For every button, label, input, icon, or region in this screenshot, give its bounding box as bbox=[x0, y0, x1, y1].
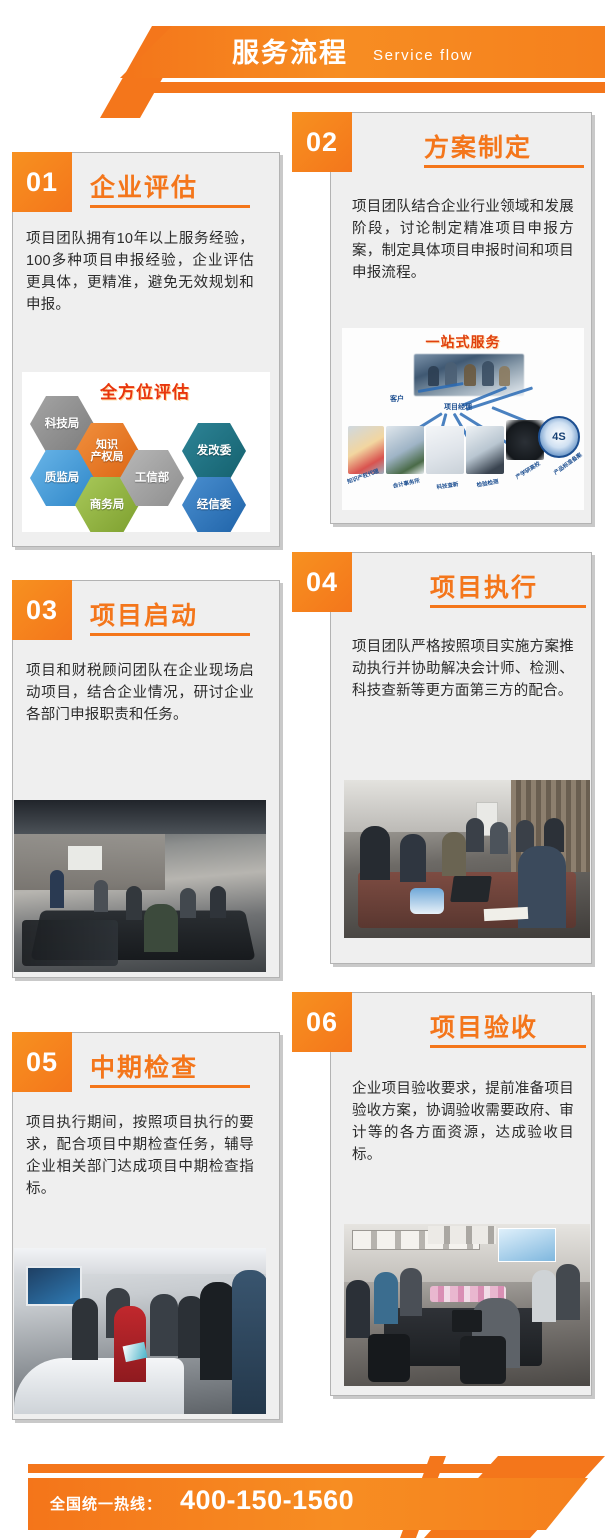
card-05-photo-display-screen bbox=[26, 1266, 82, 1306]
card-06-photo bbox=[344, 1224, 590, 1386]
card-01-hexagon-chart: 全方位评估 科技局 知识产权局 质监局 商务局 工信部 发改委 经信委 bbox=[22, 372, 270, 532]
hexagon-node-4-label: 工信部 bbox=[135, 472, 170, 485]
one-stop-thumb-0 bbox=[348, 426, 384, 474]
one-stop-thumb-2 bbox=[426, 426, 464, 474]
card-03-photo-chair-row bbox=[22, 920, 118, 966]
card-04-photo-person-e bbox=[490, 822, 508, 854]
one-stop-service-label-1: 会计事务所 bbox=[392, 476, 421, 490]
page-title: 服务流程 bbox=[232, 34, 348, 72]
card-04-photo-bag bbox=[410, 888, 444, 914]
one-stop-hero-figure-e bbox=[499, 366, 510, 386]
card-03-photo-person-b bbox=[94, 880, 108, 912]
card-04-title-rule bbox=[430, 605, 586, 608]
card-04-photo-person-d bbox=[466, 818, 484, 852]
hexagon-node-6: 经信委 bbox=[182, 477, 246, 532]
hexagon-node-0-label: 科技局 bbox=[45, 418, 80, 431]
header-bar bbox=[120, 26, 605, 78]
one-stop-hero-figure-a bbox=[428, 366, 439, 386]
card-02-one-stop-service-diagram: 一站式服务 客户 项目经理 4S 知识产权代理 会计事务所 科技查新 bbox=[342, 328, 584, 510]
card-01-number-badge: 01 bbox=[12, 152, 72, 212]
card-06-photo-person-right-a bbox=[532, 1270, 556, 1322]
card-05-photo-person-c bbox=[150, 1294, 178, 1356]
hexagon-node-5-label: 发改委 bbox=[197, 445, 232, 458]
card-06-photo-person-left-b bbox=[374, 1272, 398, 1324]
card-06-number-badge: 06 bbox=[292, 992, 352, 1052]
card-02-body: 项目团队结合企业行业领域和发展阶段，讨论制定精准项目申报方案，制定具体项目申报时… bbox=[352, 196, 574, 284]
infographic-page: 服务流程 Service flow 01 企业评估 项目团队拥有10年以上服务经… bbox=[0, 0, 605, 1538]
footer-banner: 全国统一热线： 400-150-1560 bbox=[0, 1420, 605, 1538]
card-02-title: 方案制定 bbox=[424, 128, 532, 164]
card-04-photo-person-b bbox=[400, 834, 426, 882]
card-03-title-rule bbox=[90, 633, 250, 636]
card-05-photo-counter bbox=[14, 1358, 184, 1414]
card-03-photo-ceiling bbox=[14, 800, 266, 834]
card-01-title: 企业评估 bbox=[90, 168, 198, 204]
hexagon-node-2-label: 质监局 bbox=[45, 472, 80, 485]
hexagon-node-1-label: 知识产权局 bbox=[91, 439, 124, 464]
card-06-photo-chair-a bbox=[368, 1334, 410, 1382]
one-stop-quality-seal-icon: 4S bbox=[538, 416, 580, 458]
one-stop-service-title: 一站式服务 bbox=[342, 332, 584, 352]
card-04-photo-papers bbox=[484, 907, 529, 921]
card-06-title: 项目验收 bbox=[430, 1008, 538, 1044]
card-01-body: 项目团队拥有10年以上服务经验，100多种项目申报经验，企业评估更具体，更精准，… bbox=[26, 228, 254, 316]
one-stop-center-node: 项目经理 bbox=[444, 402, 472, 412]
header-underline-stripe bbox=[138, 82, 605, 93]
card-03-photo bbox=[14, 800, 266, 972]
hexagon-node-5: 发改委 bbox=[182, 423, 246, 479]
card-03-number-badge: 03 bbox=[12, 580, 72, 640]
card-04-photo-laptop bbox=[450, 876, 492, 902]
hexagon-chart-heading: 全方位评估 bbox=[100, 378, 190, 403]
card-02-title-rule bbox=[424, 165, 584, 168]
card-06-body: 企业项目验收要求，提前准备项目验收方案，协调验收需要政府、审计等的各方面资源，达… bbox=[352, 1078, 574, 1166]
card-05-photo bbox=[14, 1248, 266, 1414]
one-stop-hero-figure-c bbox=[464, 364, 476, 386]
card-05-title-rule bbox=[90, 1085, 250, 1088]
card-05-photo-person-a bbox=[72, 1298, 98, 1360]
header-banner: 服务流程 Service flow bbox=[0, 0, 605, 118]
card-03-photo-whiteboard bbox=[68, 846, 102, 870]
card-06-photo-projector-screen bbox=[498, 1228, 556, 1262]
card-06-title-rule bbox=[430, 1045, 586, 1048]
one-stop-hero-figure-d bbox=[482, 361, 494, 386]
footer-hotline-label: 全国统一热线： bbox=[50, 1493, 162, 1514]
card-04-body: 项目团队严格按照项目实施方案推动执行并协助解决会计师、检测、科技查新等更方面第三… bbox=[352, 636, 574, 702]
card-02-number-badge: 02 bbox=[292, 112, 352, 172]
card-05-title: 中期检查 bbox=[90, 1048, 198, 1084]
one-stop-thumb-3 bbox=[466, 426, 504, 474]
one-stop-service-label-4: 产学研高校 bbox=[514, 459, 542, 480]
card-04-photo-person-a bbox=[360, 826, 390, 880]
card-06-photo-person-left-c bbox=[400, 1268, 422, 1316]
footer-top-stripe bbox=[28, 1464, 588, 1473]
card-05-photo-person-e bbox=[200, 1282, 236, 1380]
one-stop-seal-text: 4S bbox=[552, 431, 565, 443]
one-stop-service-label-3: 检验检测 bbox=[476, 477, 499, 489]
card-03-photo-person-e bbox=[180, 888, 196, 918]
hexagon-node-6-label: 经信委 bbox=[197, 499, 232, 512]
page-subtitle: Service flow bbox=[373, 44, 473, 68]
card-05-photo-person-f bbox=[232, 1270, 266, 1414]
one-stop-service-label-2: 科技查新 bbox=[436, 480, 459, 491]
card-03-photo-person-a bbox=[50, 870, 64, 908]
card-04-title: 项目执行 bbox=[430, 568, 538, 604]
one-stop-client-node: 客户 bbox=[390, 394, 404, 404]
card-03-photo-person-f bbox=[210, 886, 226, 918]
card-05-number-badge: 05 bbox=[12, 1032, 72, 1092]
card-04-number-badge: 04 bbox=[292, 552, 352, 612]
card-06-photo-certificate-frames-2 bbox=[428, 1226, 496, 1244]
card-06-photo-person-right-b bbox=[556, 1264, 580, 1320]
card-03-photo-person-d bbox=[144, 904, 178, 952]
card-06-photo-chair-b bbox=[460, 1336, 506, 1384]
card-03-body: 项目和财税顾问团队在企业现场启动项目，结合企业情况，研讨企业各部门申报职责和任务… bbox=[26, 660, 254, 726]
hexagon-node-3-label: 商务局 bbox=[90, 499, 125, 512]
card-06-photo-laptop bbox=[452, 1310, 482, 1332]
card-05-body: 项目执行期间，按照项目执行的要求，配合项目中期检查任务，辅导企业相关部门达成项目… bbox=[26, 1112, 254, 1200]
card-03-title: 项目启动 bbox=[90, 596, 198, 632]
one-stop-thumb-1 bbox=[386, 426, 424, 474]
card-04-photo bbox=[344, 780, 590, 938]
card-04-photo-person-c bbox=[442, 832, 466, 876]
card-01-title-rule bbox=[90, 205, 250, 208]
card-03-photo-person-c bbox=[126, 886, 142, 920]
card-06-photo-person-left-a bbox=[346, 1280, 370, 1338]
footer-hotline-number[interactable]: 400-150-1560 bbox=[180, 1485, 354, 1516]
